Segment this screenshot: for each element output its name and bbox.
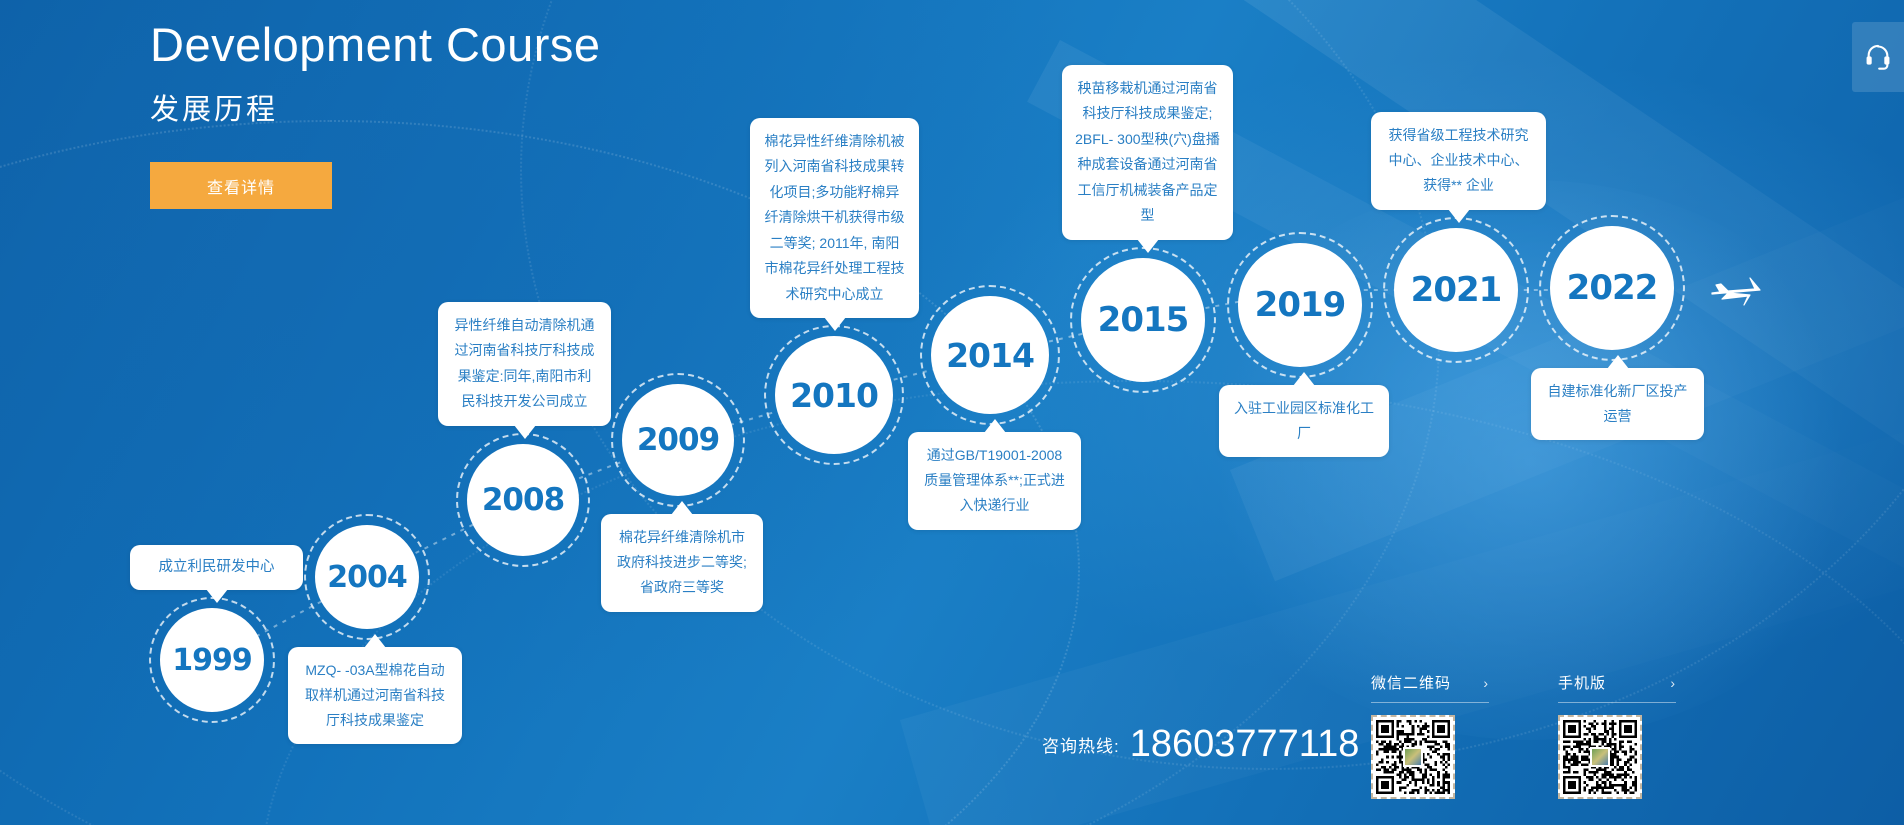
timeline-year-2004[interactable]: 2004 (315, 525, 419, 629)
year-label: 2004 (327, 560, 407, 595)
year-label: 2009 (637, 422, 719, 458)
year-label: 1999 (172, 643, 252, 678)
bubble-tail (1293, 372, 1315, 386)
airplane-icon (1710, 272, 1764, 317)
bubble-tail (1448, 209, 1470, 223)
timeline-description-2009: 棉花异纤维清除机市政府科技进步二等奖;省政府三等奖 (601, 514, 763, 612)
bubble-tail (984, 419, 1006, 433)
qr-block-mobile[interactable]: 手机版 › (1558, 672, 1676, 799)
timeline-year-2019[interactable]: 2019 (1238, 243, 1362, 367)
timeline-description-2010: 棉花异性纤维清除机被列入河南省科技成果转化项目;多功能籽棉异纤清除烘干机获得市级… (750, 118, 919, 318)
year-label: 2019 (1255, 285, 1346, 325)
bubble-tail (824, 317, 846, 331)
description-text: 通过GB/T19001-2008质量管理体系**;正式进入快递行业 (924, 447, 1065, 513)
description-text: 棉花异性纤维清除机被列入河南省科技成果转化项目;多功能籽棉异纤清除烘干机获得市级… (765, 133, 905, 302)
timeline-description-2014: 通过GB/T19001-2008质量管理体系**;正式进入快递行业 (908, 432, 1081, 530)
description-text: 自建标准化新厂区投产运营 (1548, 383, 1688, 424)
timeline-year-1999[interactable]: 1999 (160, 608, 264, 712)
chevron-right-icon: › (1670, 675, 1676, 691)
description-text: 获得省级工程技术研究中心、企业技术中心、获得** 企业 (1389, 127, 1529, 193)
qr-code-image (1558, 715, 1642, 799)
description-text: 秧苗移栽机通过河南省科技厅科技成果鉴定; 2BFL- 300型秧(穴)盘播种成套… (1075, 80, 1220, 223)
year-label: 2022 (1567, 268, 1658, 308)
timeline-description-2004: MZQ- -03A型棉花自动取样机通过河南省科技厅科技成果鉴定 (288, 647, 462, 744)
timeline-year-2015[interactable]: 2015 (1081, 258, 1205, 382)
timeline-year-2021[interactable]: 2021 (1394, 228, 1518, 352)
year-label: 2021 (1411, 270, 1502, 310)
year-label: 2014 (946, 336, 1034, 375)
description-text: 成立利民研发中心 (159, 559, 275, 575)
timeline-description-2008: 异性纤维自动清除机通过河南省科技厅科技成果鉴定:同年,南阳市利民科技开发公司成立 (438, 302, 611, 426)
bubble-tail (671, 501, 693, 515)
timeline-description-2019: 入驻工业园区标准化工厂 (1219, 385, 1389, 457)
qr-label: 手机版 (1558, 672, 1606, 693)
development-course-page: Development Course 发展历程 查看详情 1999成立利民研发中… (0, 0, 1904, 825)
bubble-tail (1137, 239, 1159, 253)
timeline-description-2015: 秧苗移栽机通过河南省科技厅科技成果鉴定; 2BFL- 300型秧(穴)盘播种成套… (1062, 65, 1233, 240)
hotline-label: 咨询热线: (1042, 732, 1120, 763)
timeline-description-2022: 自建标准化新厂区投产运营 (1531, 368, 1704, 440)
description-text: 棉花异纤维清除机市政府科技进步二等奖;省政府三等奖 (617, 529, 747, 595)
timeline-description-2021: 获得省级工程技术研究中心、企业技术中心、获得** 企业 (1371, 112, 1546, 210)
headset-icon (1864, 43, 1892, 71)
year-label: 2008 (482, 482, 564, 518)
bubble-tail (206, 589, 228, 603)
description-text: 入驻工业园区标准化工厂 (1234, 400, 1374, 441)
bubble-tail (364, 634, 386, 648)
timeline-year-2009[interactable]: 2009 (622, 384, 734, 496)
qr-code-image (1371, 715, 1455, 799)
customer-service-tab[interactable] (1852, 22, 1904, 92)
qr-label: 微信二维码 (1371, 672, 1451, 693)
bubble-tail (514, 425, 536, 439)
qr-center-logo (1590, 747, 1610, 767)
timeline-year-2008[interactable]: 2008 (467, 444, 579, 556)
description-text: MZQ- -03A型棉花自动取样机通过河南省科技厅科技成果鉴定 (305, 662, 445, 728)
qr-center-logo (1403, 747, 1423, 767)
timeline-description-1999: 成立利民研发中心 (130, 545, 303, 590)
year-label: 2010 (790, 376, 878, 415)
timeline-year-2010[interactable]: 2010 (775, 336, 893, 454)
qr-block-wechat[interactable]: 微信二维码 › (1371, 672, 1489, 799)
qr-header[interactable]: 手机版 › (1558, 672, 1676, 703)
hotline: 咨询热线: 18603777118 (1042, 725, 1359, 763)
bubble-tail (1607, 355, 1629, 369)
year-label: 2015 (1098, 300, 1189, 340)
chevron-right-icon: › (1483, 675, 1489, 691)
timeline-year-2022[interactable]: 2022 (1550, 226, 1674, 350)
hotline-number: 18603777118 (1130, 725, 1360, 763)
qr-header[interactable]: 微信二维码 › (1371, 672, 1489, 703)
timeline-year-2014[interactable]: 2014 (931, 296, 1049, 414)
description-text: 异性纤维自动清除机通过河南省科技厅科技成果鉴定:同年,南阳市利民科技开发公司成立 (455, 317, 595, 409)
